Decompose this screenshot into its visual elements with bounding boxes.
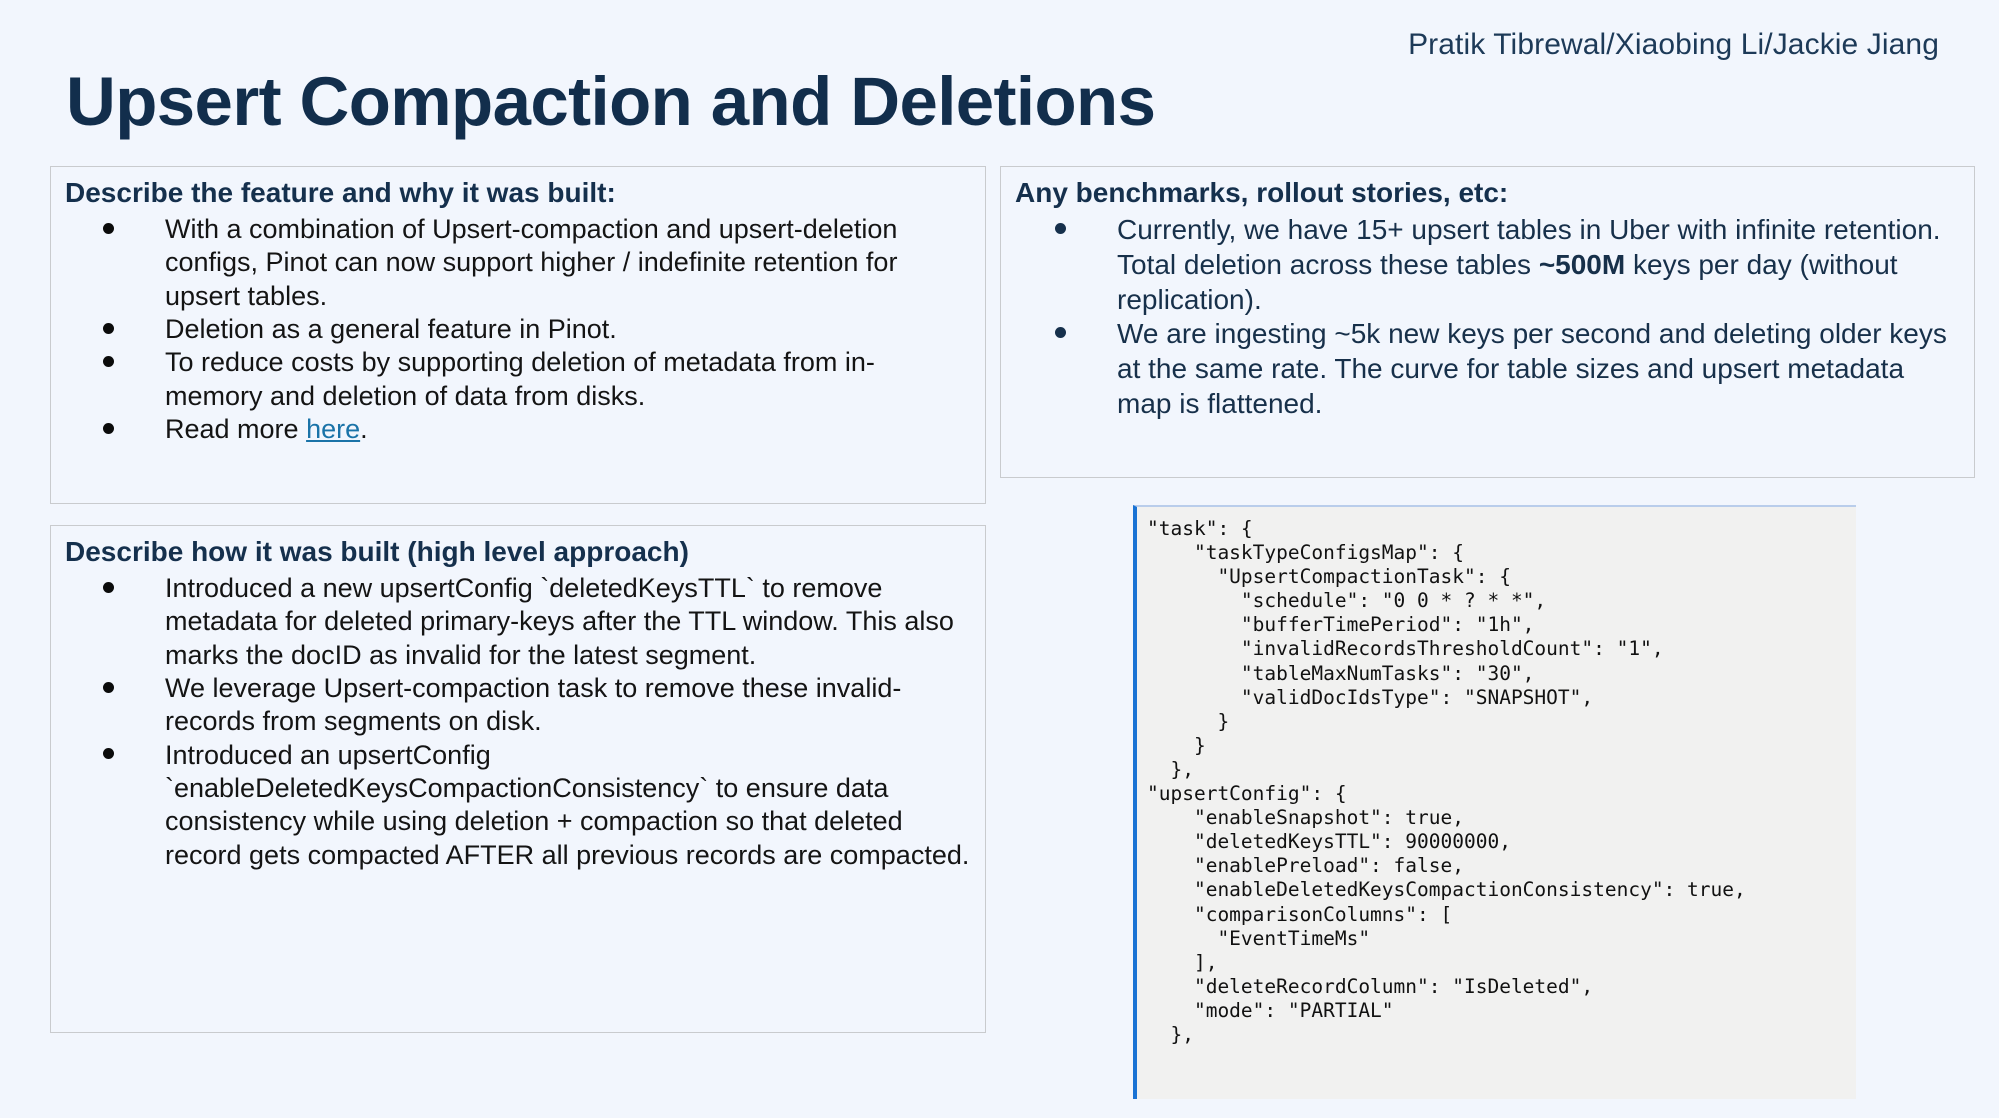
list-item-text: Currently, we have 15+ upsert tables in … [1117, 213, 1960, 318]
list-item: Deletion as a general feature in Pinot. [65, 313, 971, 346]
list-item-text: Deletion as a general feature in Pinot. [165, 313, 971, 346]
list-item: To reduce costs by supporting deletion o… [65, 346, 971, 413]
list-item-read-more: Read more here. [65, 413, 971, 446]
panel-heading-describe-approach: Describe how it was built (high level ap… [65, 534, 971, 570]
page-title: Upsert Compaction and Deletions [66, 66, 1155, 138]
list-item-text: We are ingesting ~5k new keys per second… [1117, 317, 1960, 422]
list-item-text: Read more here. [165, 413, 971, 446]
code-snippet-text: "task": { "taskTypeConfigsMap": { "Upser… [1147, 517, 1848, 1047]
here-link[interactable]: here [306, 414, 360, 444]
list-item-text: Introduced an upsertConfig `enableDelete… [165, 739, 971, 872]
authors-byline: Pratik Tibrewal/Xiaobing Li/Jackie Jiang [1408, 28, 1939, 62]
list-item: We leverage Upsert-compaction task to re… [65, 672, 971, 739]
list-item: Currently, we have 15+ upsert tables in … [1015, 213, 1960, 318]
read-more-suffix: . [360, 414, 368, 444]
bullet-dot-icon [1055, 223, 1066, 234]
approach-bullet-list: Introduced a new upsertConfig `deletedKe… [65, 572, 971, 872]
bullet-dot-icon [103, 582, 114, 593]
bullet-dot-icon [1055, 327, 1066, 338]
list-item: With a combination of Upsert-compaction … [65, 213, 971, 313]
benchmark-emphasis-value: ~500M [1539, 249, 1625, 280]
list-item-text: We leverage Upsert-compaction task to re… [165, 672, 971, 739]
list-item: Introduced an upsertConfig `enableDelete… [65, 739, 971, 872]
bullet-dot-icon [103, 748, 114, 759]
read-more-prefix: Read more [165, 414, 306, 444]
json-config-code-block: "task": { "taskTypeConfigsMap": { "Upser… [1133, 505, 1856, 1099]
bullet-dot-icon [103, 323, 114, 334]
panel-benchmarks: Any benchmarks, rollout stories, etc: Cu… [1000, 166, 1975, 478]
feature-bullet-list: With a combination of Upsert-compaction … [65, 213, 971, 446]
bullet-dot-icon [103, 423, 114, 434]
benchmarks-bullet-list: Currently, we have 15+ upsert tables in … [1015, 213, 1960, 422]
list-item-text: With a combination of Upsert-compaction … [165, 213, 971, 313]
panel-describe-approach: Describe how it was built (high level ap… [50, 525, 986, 1033]
list-item-text: To reduce costs by supporting deletion o… [165, 346, 971, 413]
list-item-text: Introduced a new upsertConfig `deletedKe… [165, 572, 971, 672]
panel-describe-feature: Describe the feature and why it was buil… [50, 166, 986, 504]
list-item: Introduced a new upsertConfig `deletedKe… [65, 572, 971, 672]
list-item: We are ingesting ~5k new keys per second… [1015, 317, 1960, 422]
bullet-dot-icon [103, 356, 114, 367]
bullet-dot-icon [103, 682, 114, 693]
panel-heading-benchmarks: Any benchmarks, rollout stories, etc: [1015, 175, 1960, 211]
panel-heading-describe-feature: Describe the feature and why it was buil… [65, 175, 971, 211]
bullet-dot-icon [103, 223, 114, 234]
